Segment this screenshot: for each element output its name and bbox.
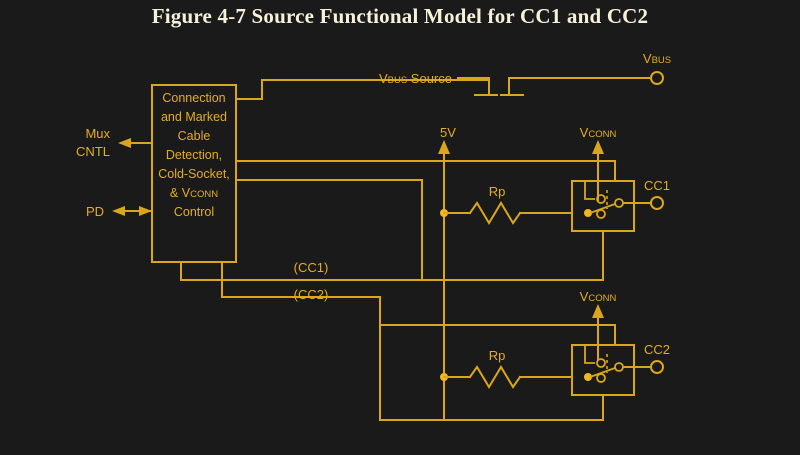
cc2-internal-label: (CC2) bbox=[294, 287, 329, 302]
five-volt-rail: 5V bbox=[438, 125, 456, 420]
block-vconn-prefix: & V bbox=[170, 186, 191, 200]
cc2-terminal-label: CC2 bbox=[644, 342, 670, 357]
block-vconn-sub: CONN bbox=[190, 189, 218, 200]
cc1-rp-label: Rp bbox=[489, 184, 506, 199]
vbus-source-path: VBUS Source VBUS bbox=[236, 51, 671, 99]
vbus-source-tail: Source bbox=[407, 71, 452, 86]
cc1-switch-box[interactable] bbox=[572, 181, 650, 231]
cc2-switch-box[interactable] bbox=[572, 345, 650, 395]
cc-internal-lines: (CC1) (CC2) bbox=[181, 180, 603, 420]
cc1-rp-resistor: Rp bbox=[470, 184, 572, 223]
vbus-source-sub: BUS bbox=[388, 75, 408, 86]
vbus-source-label: VBUS Source bbox=[379, 71, 452, 86]
block-line-5: Cold-Socket, bbox=[158, 167, 230, 181]
circuit-diagram: Connection and Marked Cable Detection, C… bbox=[0, 0, 800, 455]
vbus-terminal-label: VBUS bbox=[643, 51, 671, 66]
block-line-2: and Marked bbox=[161, 110, 227, 124]
cc2-vconn-label: VCONN bbox=[580, 289, 617, 304]
block-line-4: Detection, bbox=[166, 148, 222, 162]
mux-cntl-label-line2: CNTL bbox=[76, 144, 110, 159]
five-volt-label: 5V bbox=[440, 125, 456, 140]
block-line-1: Connection bbox=[162, 91, 225, 105]
figure-canvas: Figure 4-7 Source Functional Model for C… bbox=[0, 0, 800, 455]
cc1-vconn-sub: CONN bbox=[588, 129, 616, 140]
pd-label: PD bbox=[86, 204, 104, 219]
mux-cntl-port: Mux CNTL bbox=[76, 126, 152, 159]
cc2-rp-label: Rp bbox=[489, 348, 506, 363]
cc1-vconn-main: V bbox=[580, 125, 589, 140]
cc1-section: VCONN Rp bbox=[236, 125, 670, 280]
cc2-section: VCONN Rp bbox=[380, 289, 670, 420]
cc1-internal-label: (CC1) bbox=[294, 260, 329, 275]
connection-detection-block: Connection and Marked Cable Detection, C… bbox=[152, 85, 236, 262]
block-line-3: Cable bbox=[178, 129, 211, 143]
block-line-7: Control bbox=[174, 205, 214, 219]
vbus-source-main: V bbox=[379, 71, 388, 86]
cc2-vconn-sub: CONN bbox=[588, 293, 616, 304]
pd-port: PD bbox=[86, 204, 152, 219]
vbus-terminal-sub: BUS bbox=[652, 55, 672, 66]
block-line-6: & VCONN bbox=[170, 186, 218, 200]
cc2-rp-resistor: Rp bbox=[470, 348, 572, 387]
mux-cntl-label-line1: Mux bbox=[85, 126, 110, 141]
cc1-vconn-label: VCONN bbox=[580, 125, 617, 140]
cc1-terminal-label: CC1 bbox=[644, 178, 670, 193]
vbus-terminal-main: V bbox=[643, 51, 652, 66]
cc2-vconn-main: V bbox=[580, 289, 589, 304]
